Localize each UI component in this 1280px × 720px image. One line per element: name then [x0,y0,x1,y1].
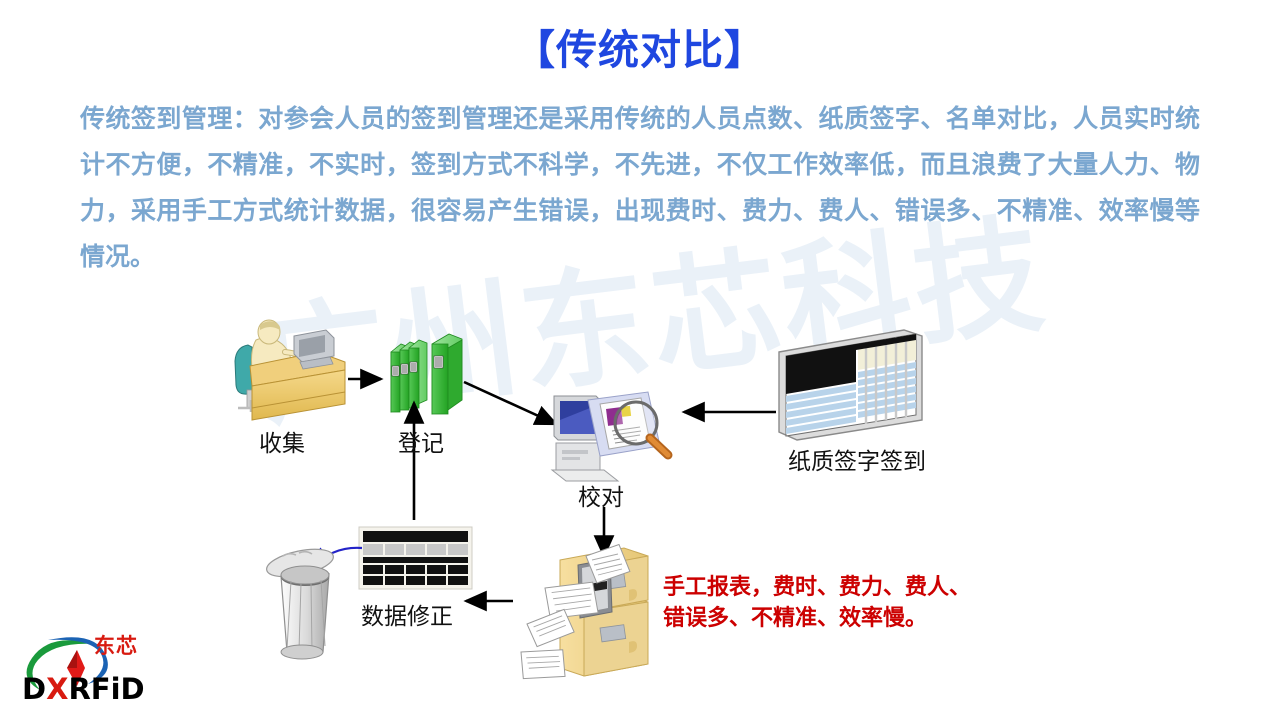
trash-can-icon [264,544,336,659]
arrow-register-to-proofread [464,382,556,424]
signin-sheet-icon [779,330,922,440]
note-line-2: 错误多、不精准、效率慢。 [663,603,927,634]
slide-root: 广州东芯科技 【传统对比】 传统签到管理：对参会人员的签到管理还是采用传统的人员… [0,0,1280,720]
note-line-1: 手工报表，费时、费力、费人、 [663,572,971,603]
label-data-fix: 数据修正 [361,597,453,631]
label-paper-sign: 纸质签字签到 [788,442,926,476]
company-logo: 东芯 DXRFiD [22,628,182,710]
logo-english-text: DXRFiD [22,672,145,706]
logo-en-mark: X [46,672,68,706]
body-paragraph: 传统签到管理：对参会人员的签到管理还是采用传统的人员点数、纸质签字、名单对比，人… [80,96,1200,280]
page-title: 【传统对比】 [0,16,1280,76]
logo-en-pre: D [22,672,46,706]
logo-en-post: RFiD [68,672,144,706]
green-binders-icon [391,334,462,414]
label-proofread: 校对 [578,478,624,512]
file-cabinet-icon [517,544,648,685]
logo-chinese-text: 东芯 [94,630,138,660]
label-register: 登记 [398,424,444,458]
person-at-desk-icon [235,320,345,420]
grid-document-icon [359,527,472,589]
computer-magnifier-icon [552,392,668,481]
label-collect: 收集 [259,424,305,458]
